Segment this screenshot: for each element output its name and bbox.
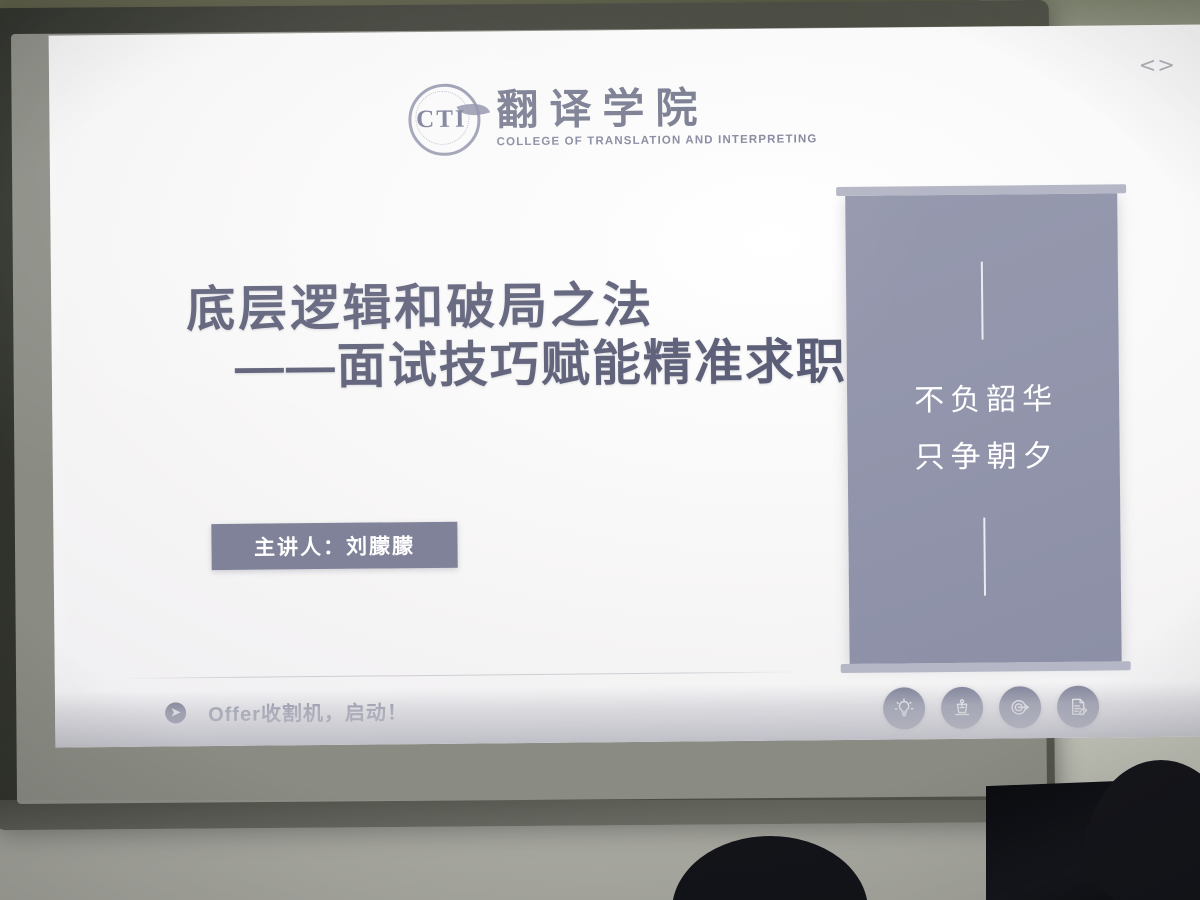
logo-english-name: COLLEGE OF TRANSLATION AND INTERPRETING [497, 133, 818, 148]
banner-inner: 不负韶华 只争朝夕 [845, 193, 1121, 664]
vertical-banner: 不负韶华 只争朝夕 [845, 193, 1121, 664]
presentation-photo-scene: Hisense <> CTI 翻译学院 COLLEGE OF TRANSLATI… [0, 0, 1200, 900]
slide-title-block: 底层逻辑和破局之法 ——面试技巧赋能精准求职 [186, 276, 847, 398]
slide-nav-chevrons[interactable]: <> [1139, 53, 1176, 77]
slide-surface: <> CTI 翻译学院 COLLEGE OF TRANSLATION AND I… [49, 24, 1200, 747]
banner-line-1: 不负韶华 [908, 371, 1059, 429]
banner-line-2: 只争朝夕 [908, 428, 1059, 486]
cti-seal-icon: CTI [404, 79, 483, 158]
speaker-chip: 主讲人：刘朦朦 [211, 522, 457, 570]
footer-divider [119, 671, 809, 679]
cti-logo-lockup: CTI 翻译学院 COLLEGE OF TRANSLATION AND INTE… [404, 76, 818, 158]
logo-chinese-name: 翻译学院 [496, 85, 817, 132]
banner-rule-top [981, 262, 984, 340]
slide-content: <> CTI 翻译学院 COLLEGE OF TRANSLATION AND I… [49, 24, 1200, 747]
slide-title-line-2: ——面试技巧赋能精准求职 [235, 334, 848, 398]
logo-cti-text: CTI [404, 105, 478, 134]
slide-title-line-1: 底层逻辑和破局之法 [186, 276, 847, 340]
banner-rule-bottom [983, 518, 986, 596]
logo-text-column: 翻译学院 COLLEGE OF TRANSLATION AND INTERPRE… [496, 85, 817, 148]
slide-bottom-band [55, 680, 1200, 747]
